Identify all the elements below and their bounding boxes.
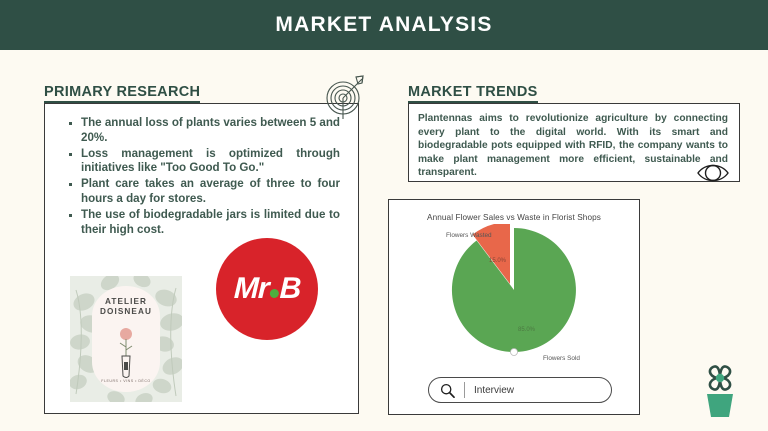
- logo-mr-b: MrB: [216, 238, 318, 340]
- logo-mr-b-text: MrB: [233, 272, 301, 306]
- page-title: MARKET ANALYSIS: [275, 13, 492, 37]
- logo-mr-b-dot: [269, 289, 278, 298]
- logo-atelier-tagline: FLEURS • VINS • DÉCO: [101, 379, 150, 383]
- logo-atelier-line2: DOISNEAU: [100, 307, 152, 317]
- logo-mr-b-suffix: B: [279, 272, 301, 305]
- pie-label-flowers-wasted: Flowers Wasted: [446, 232, 492, 239]
- eye-icon: [696, 160, 730, 186]
- interview-search-box[interactable]: Interview: [428, 377, 612, 403]
- market-trends-heading: MARKET TRENDS: [408, 84, 538, 103]
- pie-value-flowers-wasted: 15.0%: [489, 258, 506, 264]
- pie-marker: [511, 349, 518, 356]
- flower-vase-icon: [106, 326, 146, 382]
- primary-research-bullet-list: The annual loss of plants varies between…: [68, 116, 340, 239]
- pie-label-flowers-sold: Flowers Sold: [543, 355, 580, 362]
- logo-mr-b-prefix: Mr: [233, 272, 269, 305]
- list-item: The use of biodegradable jars is limited…: [68, 208, 340, 238]
- logo-atelier-title: ATELIER DOISNEAU: [100, 297, 152, 318]
- pie-chart-svg: [398, 224, 630, 356]
- target-icon: [322, 72, 370, 120]
- market-trends-paragraph: Plantennas aims to revolutionize agricul…: [418, 112, 728, 180]
- list-item: The annual loss of plants varies between…: [68, 116, 340, 146]
- search-divider: [464, 382, 465, 398]
- chart-title: Annual Flower Sales vs Waste in Florist …: [398, 213, 630, 222]
- list-item: Loss management is optimized through ini…: [68, 147, 340, 177]
- slide-header: MARKET ANALYSIS: [0, 0, 768, 50]
- search-input[interactable]: Interview: [474, 385, 514, 396]
- pie-chart: [398, 224, 630, 356]
- search-icon: [440, 383, 455, 398]
- pie-slice-flowers-sold[interactable]: [452, 228, 576, 352]
- pie-value-flowers-sold: 85.0%: [518, 327, 535, 333]
- logo-atelier-line1: ATELIER: [100, 297, 152, 307]
- potted-plant-icon: [694, 362, 746, 420]
- primary-research-heading: PRIMARY RESEARCH: [44, 84, 200, 103]
- list-item: Plant care takes an average of three to …: [68, 177, 340, 207]
- slide-root: MARKET ANALYSIS PRIMARY RESEARCH The ann…: [0, 0, 768, 431]
- logo-atelier-doisneau: ATELIER DOISNEAU FLEURS • VINS • DÉCO: [70, 276, 182, 402]
- logo-atelier-card: ATELIER DOISNEAU FLEURS • VINS • DÉCO: [92, 286, 160, 392]
